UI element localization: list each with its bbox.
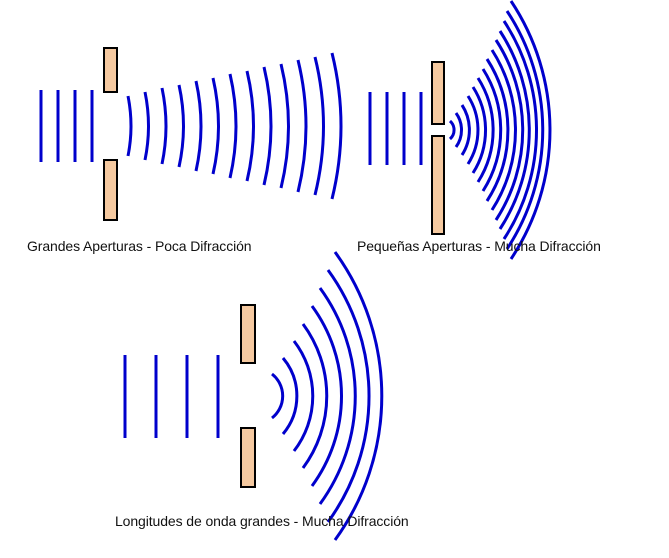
panel-small-aperture: Pequeñas Aperturas - Mucha Difracción xyxy=(340,0,669,265)
incoming-plane-waves-panel3 xyxy=(125,355,218,438)
panel-long-wavelength-graphic xyxy=(0,265,669,510)
barrier-panel3 xyxy=(241,305,255,487)
barrier-panel1 xyxy=(104,48,117,220)
panel-large-aperture-caption: Grandes Aperturas - Poca Difracción xyxy=(27,238,252,254)
incoming-plane-waves-panel1 xyxy=(41,90,92,162)
panel-large-aperture-graphic xyxy=(0,0,340,235)
panel-large-aperture: Grandes Aperturas - Poca Difracción xyxy=(0,0,340,265)
outgoing-wavefronts-panel1 xyxy=(128,53,341,199)
panel-long-wavelength: Longitudes de onda grandes - Mucha Difra… xyxy=(0,265,669,558)
incoming-plane-waves-panel2 xyxy=(370,92,421,165)
outgoing-wavefronts-panel3 xyxy=(272,252,382,540)
panel-small-aperture-caption: Pequeñas Aperturas - Mucha Difracción xyxy=(357,238,601,254)
panel-small-aperture-graphic xyxy=(340,0,669,235)
panel-long-wavelength-caption: Longitudes de onda grandes - Mucha Difra… xyxy=(115,513,409,529)
barrier-panel2 xyxy=(432,62,444,234)
outgoing-wavefronts-panel2 xyxy=(450,1,550,259)
